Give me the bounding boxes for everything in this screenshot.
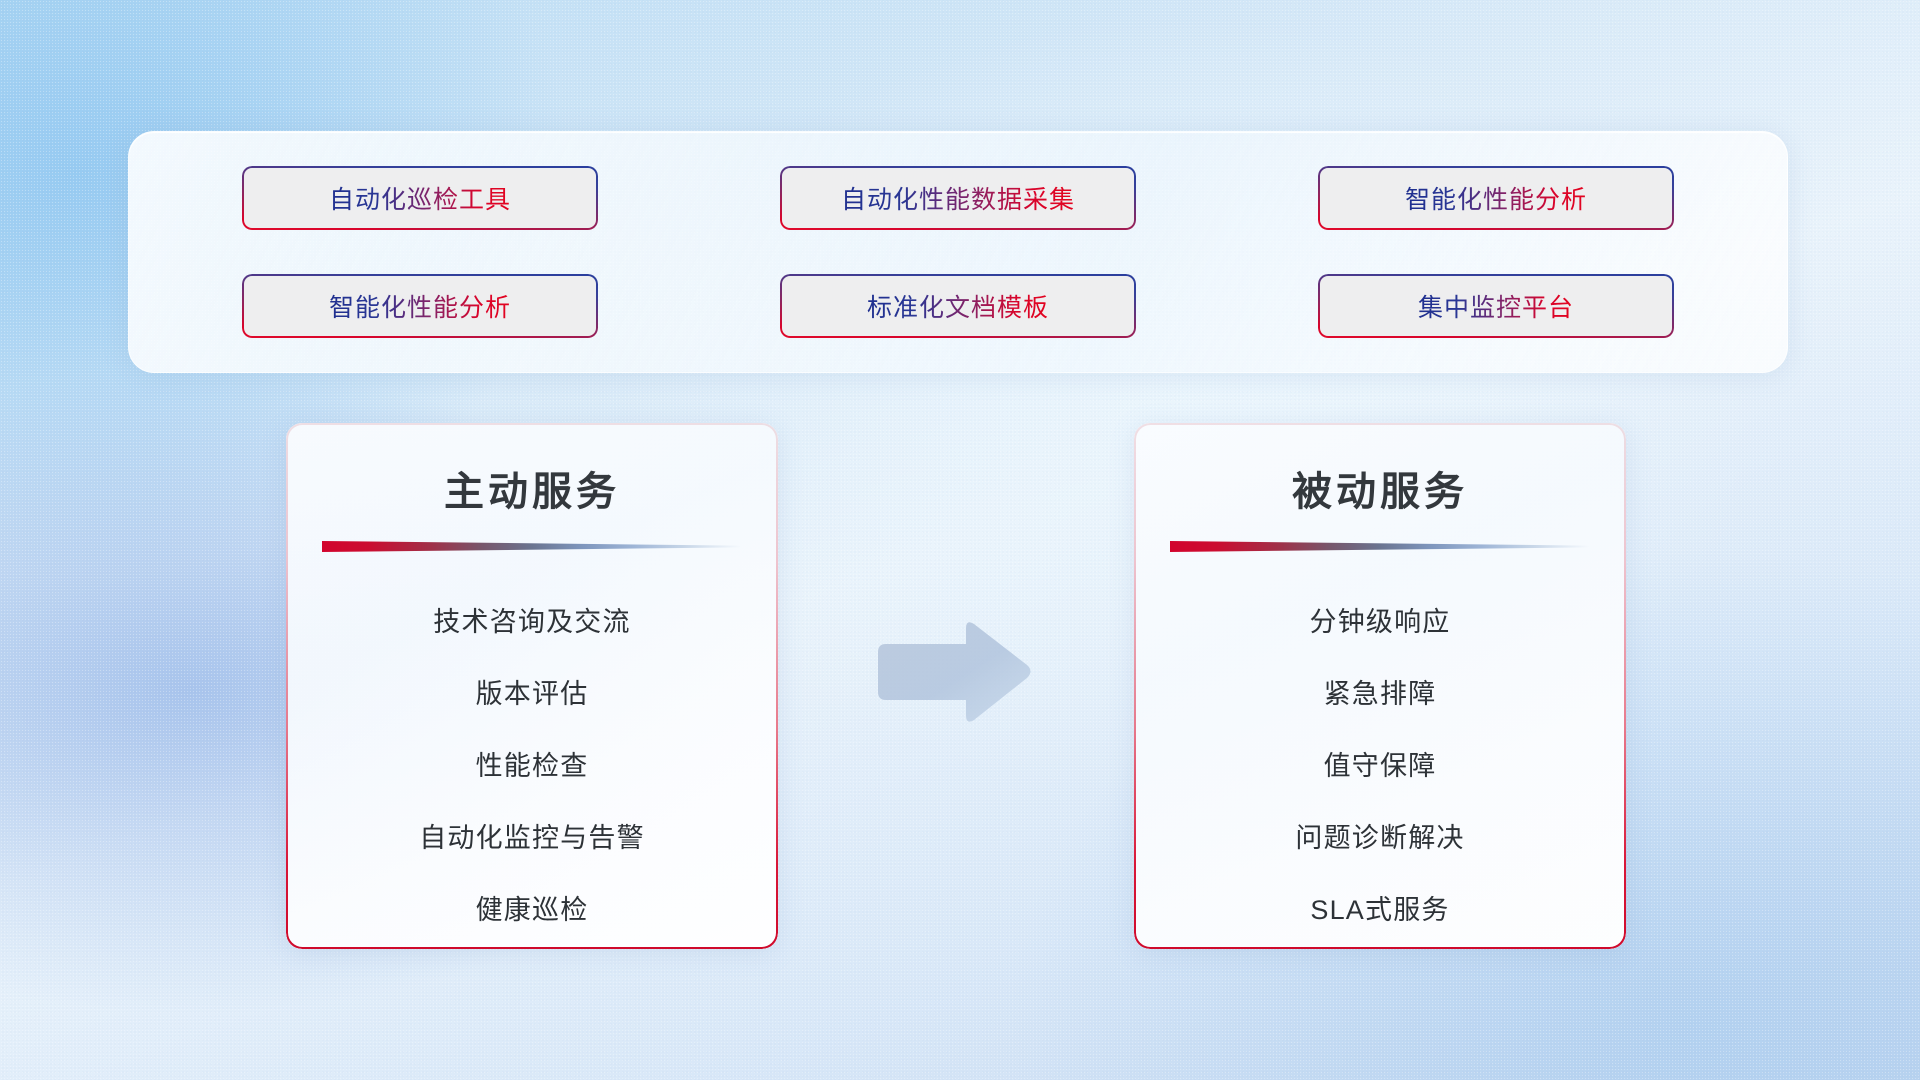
service-list-item[interactable]: SLA式服务 [1134,874,1626,946]
capability-pill-grid: 自动化巡检工具 自动化性能数据采集 智能化性能分析 智能化性能分析 标准化文档模… [129,132,1787,372]
service-list-item[interactable]: 技术咨询及交流 [286,586,778,658]
service-card-reactive: 被动服务 分钟级响应 紧急排障 值守保障 问题诊断解决 SLA式服务 [1134,423,1626,949]
arrow-right-icon [870,618,1034,728]
service-list-item[interactable]: 问题诊断解决 [1134,802,1626,874]
divider-bar [1170,541,1590,552]
service-card-proactive: 主动服务 技术咨询及交流 版本评估 性能检查 自动化监控与告警 健康巡检 [286,423,778,949]
service-item-list: 技术咨询及交流 版本评估 性能检查 自动化监控与告警 健康巡检 [286,586,778,946]
service-list-item[interactable]: 自动化监控与告警 [286,802,778,874]
capability-pill-label: 标准化文档模板 [867,288,1049,324]
capability-pill-label: 智能化性能分析 [1405,180,1587,216]
capability-pill-label: 自动化巡检工具 [329,180,511,216]
service-list-item[interactable]: 性能检查 [286,730,778,802]
service-list-item[interactable]: 健康巡检 [286,874,778,946]
divider-bar [322,541,742,552]
card-title-divider [322,541,742,552]
capability-pill-1[interactable]: 自动化巡检工具 [242,166,598,230]
capability-pill-label: 自动化性能数据采集 [841,180,1075,216]
service-list-item[interactable]: 值守保障 [1134,730,1626,802]
service-item-list: 分钟级响应 紧急排障 值守保障 问题诊断解决 SLA式服务 [1134,586,1626,946]
capability-panel: 自动化巡检工具 自动化性能数据采集 智能化性能分析 智能化性能分析 标准化文档模… [128,131,1788,373]
capability-pill-6[interactable]: 集中监控平台 [1318,274,1674,338]
capability-pill-label: 智能化性能分析 [329,288,511,324]
service-list-item[interactable]: 版本评估 [286,658,778,730]
capability-pill-3[interactable]: 智能化性能分析 [1318,166,1674,230]
card-title-divider [1170,541,1590,552]
capability-pill-2[interactable]: 自动化性能数据采集 [780,166,1136,230]
capability-pill-5[interactable]: 标准化文档模板 [780,274,1136,338]
card-title: 主动服务 [286,459,778,517]
service-list-item[interactable]: 分钟级响应 [1134,586,1626,658]
card-title: 被动服务 [1134,459,1626,517]
service-list-item[interactable]: 紧急排障 [1134,658,1626,730]
capability-pill-4[interactable]: 智能化性能分析 [242,274,598,338]
capability-pill-label: 集中监控平台 [1418,288,1574,324]
